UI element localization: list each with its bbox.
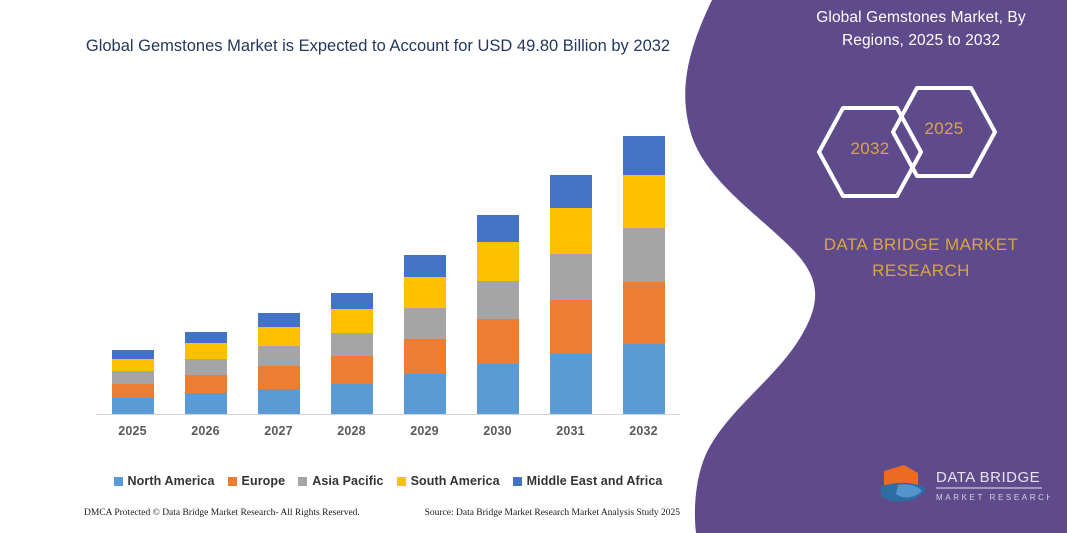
stacked-bar[interactable]: [112, 350, 154, 414]
x-axis-label: 2026: [170, 424, 242, 444]
bar-segment[interactable]: [185, 359, 227, 375]
bar-segment[interactable]: [331, 293, 373, 310]
bar-column: [608, 120, 680, 414]
bar-segment[interactable]: [112, 384, 154, 398]
stacked-bar[interactable]: [258, 313, 300, 414]
bar-segment[interactable]: [477, 364, 519, 414]
legend-item[interactable]: Middle East and Africa: [513, 474, 663, 488]
stacked-bar[interactable]: [550, 175, 592, 414]
bar-segment[interactable]: [623, 136, 665, 175]
bar-group: [96, 120, 680, 414]
bar-segment[interactable]: [550, 175, 592, 208]
legend-swatch-icon: [397, 477, 406, 486]
bar-segment[interactable]: [185, 343, 227, 359]
bar-segment[interactable]: [477, 215, 519, 243]
x-axis-label: 2029: [389, 424, 461, 444]
footer-source: Source: Data Bridge Market Research Mark…: [425, 508, 680, 524]
hexagon-group: 2032 2025: [811, 84, 1031, 204]
bar-segment[interactable]: [623, 175, 665, 229]
x-axis-line: [96, 414, 680, 415]
stacked-bar[interactable]: [477, 215, 519, 414]
bar-column: [462, 120, 534, 414]
legend-swatch-icon: [298, 477, 307, 486]
bar-segment[interactable]: [477, 242, 519, 281]
x-axis-label: 2027: [243, 424, 315, 444]
bar-column: [389, 120, 461, 414]
legend-label: Europe: [242, 474, 286, 488]
bar-segment[interactable]: [331, 333, 373, 356]
panel-content: Global Gemstones Market, By Regions, 202…: [775, 0, 1067, 533]
data-bridge-logo: DATA BRIDGE MARKET RESEARCH: [878, 463, 1050, 509]
footer: DMCA Protected © Data Bridge Market Rese…: [84, 508, 680, 524]
stacked-bar[interactable]: [404, 255, 446, 414]
bar-segment[interactable]: [112, 350, 154, 359]
footer-copyright: DMCA Protected © Data Bridge Market Rese…: [84, 508, 360, 524]
bar-column: [535, 120, 607, 414]
bar-segment[interactable]: [477, 281, 519, 320]
bar-segment[interactable]: [623, 282, 665, 344]
chart-title: Global Gemstones Market is Expected to A…: [78, 34, 678, 59]
bar-segment[interactable]: [623, 228, 665, 282]
bar-segment[interactable]: [331, 384, 373, 414]
infographic-canvas: Global Gemstones Market, By Regions, 202…: [0, 0, 1067, 533]
logo-secondary-text: MARKET RESEARCH: [936, 493, 1050, 502]
legend-label: North America: [128, 474, 215, 488]
bar-segment[interactable]: [258, 313, 300, 327]
x-axis-labels: 20252026202720282029203020312032: [96, 424, 680, 444]
bar-segment[interactable]: [258, 366, 300, 389]
bar-segment[interactable]: [404, 255, 446, 277]
x-axis-label: 2031: [535, 424, 607, 444]
legend-item[interactable]: North America: [114, 474, 215, 488]
logo-mark-icon: [880, 465, 926, 502]
bar-segment[interactable]: [550, 254, 592, 300]
bar-segment[interactable]: [477, 319, 519, 363]
x-axis-label: 2025: [97, 424, 169, 444]
bar-segment[interactable]: [258, 389, 300, 414]
brand-name: DATA BRIDGE MARKET RESEARCH: [779, 232, 1063, 284]
legend-item[interactable]: Europe: [228, 474, 286, 488]
legend-label: South America: [411, 474, 500, 488]
legend-label: Middle East and Africa: [527, 474, 663, 488]
bar-segment[interactable]: [185, 393, 227, 414]
x-axis-label: 2030: [462, 424, 534, 444]
bar-segment[interactable]: [258, 327, 300, 347]
bar-segment[interactable]: [258, 346, 300, 366]
bar-segment[interactable]: [185, 375, 227, 393]
bar-segment[interactable]: [404, 308, 446, 339]
bar-segment[interactable]: [550, 300, 592, 353]
bar-segment[interactable]: [331, 356, 373, 383]
bar-segment[interactable]: [112, 371, 154, 383]
bar-column: [243, 120, 315, 414]
chart-legend: North AmericaEuropeAsia PacificSouth Ame…: [96, 471, 680, 491]
bar-segment[interactable]: [623, 344, 665, 414]
x-axis-label: 2028: [316, 424, 388, 444]
chart-plot-area: [96, 120, 680, 415]
legend-swatch-icon: [114, 477, 123, 486]
logo-primary-text: DATA BRIDGE: [936, 469, 1040, 486]
bar-segment[interactable]: [331, 309, 373, 332]
bar-segment[interactable]: [404, 277, 446, 308]
stacked-bar[interactable]: [623, 136, 665, 414]
legend-swatch-icon: [228, 477, 237, 486]
x-axis-label: 2032: [608, 424, 680, 444]
bar-column: [316, 120, 388, 414]
bar-segment[interactable]: [550, 208, 592, 254]
hexagon-2025: 2025: [889, 84, 999, 180]
bar-segment[interactable]: [550, 354, 592, 414]
bar-segment[interactable]: [404, 374, 446, 414]
stacked-bar[interactable]: [331, 293, 373, 414]
panel-title: Global Gemstones Market, By Regions, 202…: [785, 6, 1057, 52]
legend-item[interactable]: South America: [397, 474, 500, 488]
legend-item[interactable]: Asia Pacific: [298, 474, 383, 488]
bar-segment[interactable]: [185, 332, 227, 343]
hexagon-2025-label: 2025: [889, 119, 999, 139]
bar-column: [170, 120, 242, 414]
bar-segment[interactable]: [404, 339, 446, 375]
bar-segment[interactable]: [112, 398, 154, 414]
legend-label: Asia Pacific: [312, 474, 383, 488]
stacked-bar[interactable]: [185, 332, 227, 414]
bar-segment[interactable]: [112, 359, 154, 371]
legend-swatch-icon: [513, 477, 522, 486]
bar-column: [97, 120, 169, 414]
